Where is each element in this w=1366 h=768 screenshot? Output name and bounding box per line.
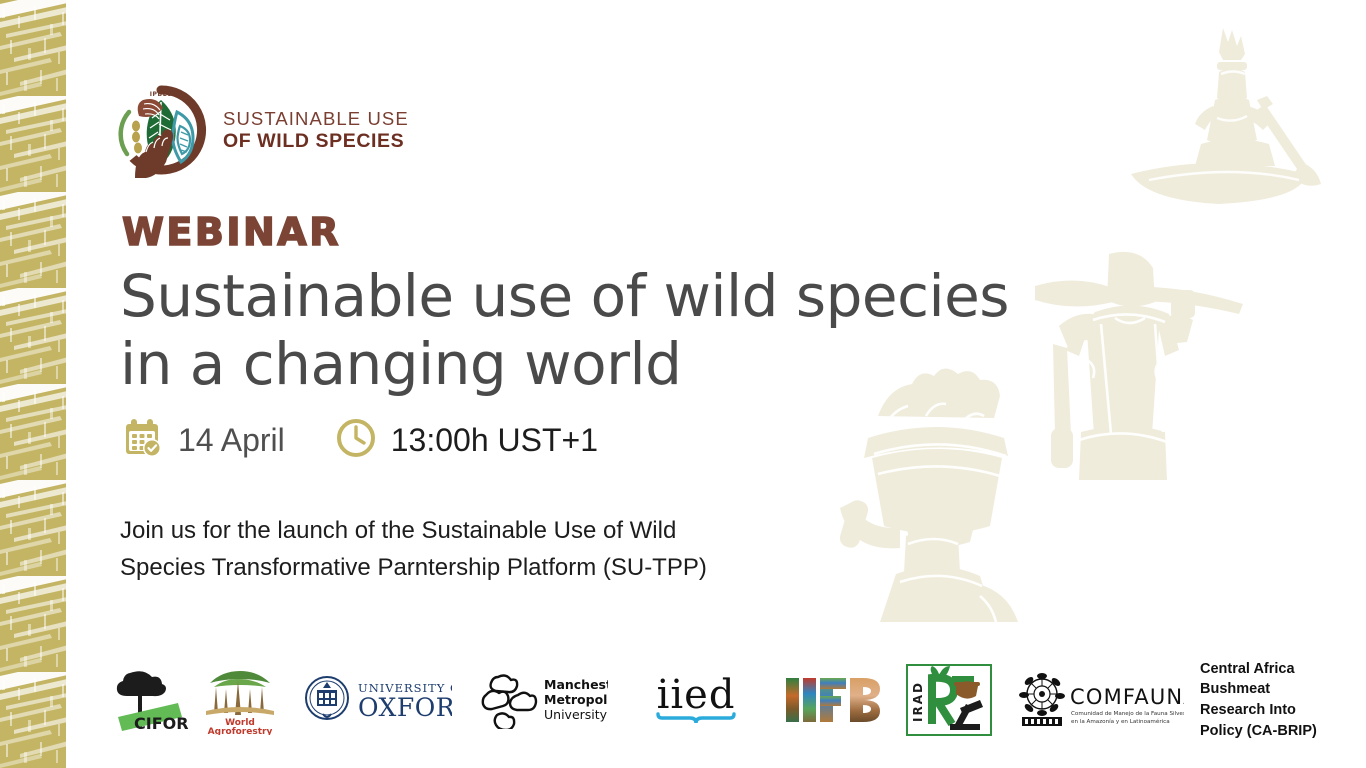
event-description: Join us for the launch of the Sustainabl… bbox=[120, 512, 860, 586]
svg-text:University: University bbox=[544, 707, 608, 722]
left-texture-border bbox=[0, 0, 72, 768]
clock-icon bbox=[333, 415, 379, 466]
brand-line-2: OF WILD SPECIES bbox=[223, 131, 409, 151]
event-date-value: 14 April bbox=[178, 422, 285, 459]
headline-line-2: in a changing world bbox=[120, 330, 1050, 398]
partner-logo-cifor: CIFOR bbox=[112, 660, 190, 740]
event-time-value: 13:00h UST+1 bbox=[391, 422, 598, 459]
description-line-2: Species Transformative Parntership Platf… bbox=[120, 549, 860, 586]
event-time: 13:00h UST+1 bbox=[333, 415, 598, 466]
svg-text:Manchester: Manchester bbox=[544, 677, 608, 692]
brand-logo-wordmark: SUSTAINABLE USE OF WILD SPECIES bbox=[223, 109, 409, 152]
cabrip-line-1: Central Africa Bushmeat bbox=[1200, 659, 1342, 700]
svg-text:COMFAUNA: COMFAUNA bbox=[1070, 685, 1184, 709]
webinar-kicker: WEBINAR bbox=[122, 210, 341, 254]
description-line-1: Join us for the launch of the Sustainabl… bbox=[120, 512, 860, 549]
partner-logo-comfauna: COMFAUNA Comunidad de Manejo de la Fauna… bbox=[1016, 660, 1184, 740]
svg-text:Agroforestry: Agroforestry bbox=[208, 727, 273, 735]
event-date: 14 April bbox=[118, 414, 285, 467]
partner-logo-manchester-metropolitan-university: Manchester Metropolitan University bbox=[478, 660, 608, 740]
canoe-paddler-illustration bbox=[1105, 22, 1355, 222]
event-meta: 14 April 13:00h UST+1 bbox=[118, 414, 598, 467]
svg-text:Metropolitan: Metropolitan bbox=[544, 692, 608, 707]
partner-logo-iifb bbox=[784, 660, 882, 740]
partner-logo-university-of-oxford: UNIVERSITY OF OXFORD bbox=[302, 660, 452, 740]
partner-logo-iied: iied bbox=[644, 660, 748, 740]
headline-line-1: Sustainable use of wild species bbox=[120, 262, 1050, 330]
webinar-poster: IPBES SUSTAINABLE USE OF WILD SPECIES WE… bbox=[0, 0, 1366, 768]
svg-text:Comunidad de Manejo de la Faun: Comunidad de Manejo de la Fauna Silvestr… bbox=[1071, 711, 1184, 717]
svg-text:IPBES: IPBES bbox=[150, 91, 173, 98]
brand-line-1: SUSTAINABLE USE bbox=[223, 109, 409, 128]
svg-text:en la Amazonía y en Latinoamér: en la Amazonía y en Latinoamérica bbox=[1071, 718, 1170, 725]
partner-logo-ca-brip: Central Africa Bushmeat Research Into Po… bbox=[1200, 660, 1342, 740]
partner-logo-irad: IRAD bbox=[906, 660, 992, 740]
svg-text:OXFORD: OXFORD bbox=[358, 693, 452, 722]
svg-text:iied: iied bbox=[657, 672, 736, 718]
cabrip-line-2: Research Into Policy (CA-BRIP) bbox=[1200, 700, 1342, 741]
partner-logo-world-agroforestry: World Agroforestry bbox=[204, 660, 276, 740]
svg-text:IRAD: IRAD bbox=[911, 681, 925, 722]
sustainable-use-circle-logo: IPBES bbox=[113, 82, 209, 178]
calendar-check-icon bbox=[118, 414, 166, 467]
porter-with-machete-illustration bbox=[1035, 248, 1275, 508]
svg-text:CIFOR: CIFOR bbox=[134, 714, 189, 733]
brand-logo: IPBES SUSTAINABLE USE OF WILD SPECIES bbox=[113, 82, 409, 178]
page-title: Sustainable use of wild species in a cha… bbox=[120, 262, 1050, 399]
partner-logos: CIFOR World Agroforestry bbox=[112, 655, 1342, 745]
